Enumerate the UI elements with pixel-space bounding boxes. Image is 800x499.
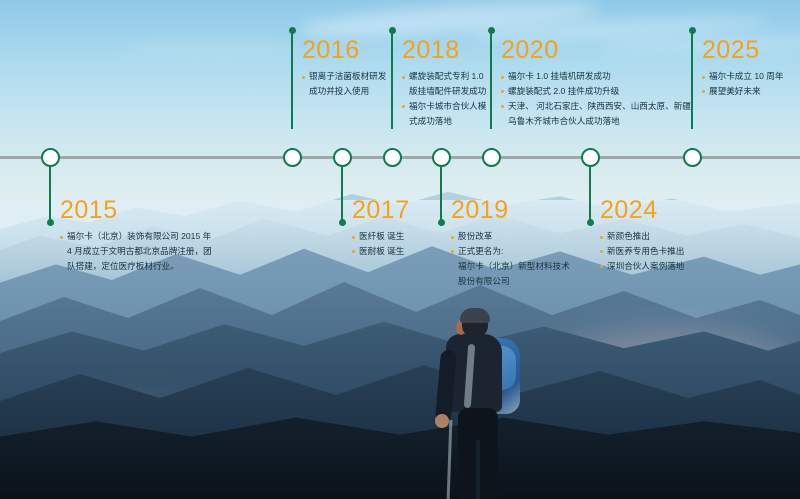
entry-bullet-list: 福尔卡 1.0 挂墙机研发成功螺旋装配式 2.0 挂件成功升级天津、 河北石家庄… — [501, 70, 691, 129]
trekking-pole — [447, 420, 453, 499]
bullet-text: 福尔卡（北京）装饰有限公司 2015 年 — [67, 230, 211, 244]
node-stem — [440, 167, 442, 223]
node-ring-icon — [283, 148, 302, 167]
entry-bullet: 展望美好未来 — [702, 85, 784, 99]
bullet-text: 银离子洁菌板材研发 — [309, 70, 386, 84]
entry-year-label: 2018 — [402, 38, 486, 63]
bullet-text: 天津、 河北石家庄、陕西西安、山西太原、新疆 — [508, 100, 691, 114]
bullet-text: 成功并投入使用 — [309, 85, 369, 99]
entry-bullet: 福尔卡（北京）新型材料技术 — [451, 260, 570, 274]
bullet-dot-icon — [402, 105, 405, 108]
timeline-entry-2019[interactable]: 2019股份改革正式更名为:福尔卡（北京）新型材料技术股份有限公司 — [451, 198, 570, 290]
entry-bullet-list: 银离子洁菌板材研发成功并投入使用 — [302, 70, 386, 99]
node-ring-icon — [581, 148, 600, 167]
bullet-dot-icon — [402, 76, 405, 79]
entry-bullet: 医耐板 诞生 — [352, 245, 410, 259]
hiker-figure — [430, 310, 560, 499]
entry-bullet: 新颜色推出 — [600, 230, 684, 244]
entry-year-label: 2016 — [302, 38, 386, 63]
entry-bullet: 队搭建，定位医疗板材行业。 — [60, 260, 212, 274]
bullet-text: 福尔卡（北京）新型材料技术 — [458, 260, 570, 274]
entry-year-label: 2024 — [600, 198, 684, 223]
timeline-entry-2024[interactable]: 2024新颜色推出新医养专用色卡推出深圳合伙人案例落地 — [600, 198, 684, 275]
bullet-text: 医耐板 诞生 — [359, 245, 404, 259]
node-stem — [391, 30, 393, 129]
bullet-text: 股份改革 — [458, 230, 492, 244]
entry-year-label: 2019 — [451, 198, 570, 223]
node-stem-dot — [438, 219, 445, 226]
node-stem-dot — [47, 219, 54, 226]
entry-bullet: 医纤板 诞生 — [352, 230, 410, 244]
node-ring-icon — [333, 148, 352, 167]
bullet-dot-icon — [451, 236, 454, 239]
entry-bullet: 新医养专用色卡推出 — [600, 245, 684, 259]
bullet-dot-icon — [402, 120, 405, 123]
bullet-text: 队搭建，定位医疗板材行业。 — [67, 260, 179, 274]
entry-bullet: 天津、 河北石家庄、陕西西安、山西太原、新疆 — [501, 100, 691, 114]
entry-bullet: 螺旋装配式专利 1.0 — [402, 70, 486, 84]
node-ring-icon — [482, 148, 501, 167]
entry-bullet-list: 福尔卡（北京）装饰有限公司 2015 年4 月成立于文明古都北京品牌注册，团队搭… — [60, 230, 212, 274]
node-stem — [49, 167, 51, 223]
node-stem — [291, 30, 293, 129]
bullet-dot-icon — [451, 265, 454, 268]
entry-year-label: 2025 — [702, 38, 784, 63]
bullet-text: 正式更名为: — [458, 245, 503, 259]
node-stem-dot — [689, 27, 696, 34]
bullet-text: 乌鲁木齐城市合伙人成功落地 — [508, 115, 620, 129]
bullet-dot-icon — [600, 265, 603, 268]
entry-bullet: 福尔卡（北京）装饰有限公司 2015 年 — [60, 230, 212, 244]
bullet-text: 福尔卡城市合伙人模 — [409, 100, 486, 114]
bullet-dot-icon — [501, 120, 504, 123]
node-stem — [691, 30, 693, 129]
bullet-dot-icon — [702, 76, 705, 79]
node-stem-dot — [488, 27, 495, 34]
bullet-dot-icon — [402, 90, 405, 93]
timeline-entry-2016[interactable]: 2016银离子洁菌板材研发成功并投入使用 — [302, 38, 386, 100]
timeline-entry-2018[interactable]: 2018螺旋装配式专利 1.0版挂墙配件研发成功福尔卡城市合伙人模式成功落地 — [402, 38, 486, 130]
entry-year-label: 2020 — [501, 38, 691, 63]
bullet-text: 式成功落地 — [409, 115, 452, 129]
entry-bullet-list: 福尔卡成立 10 周年展望美好未来 — [702, 70, 784, 99]
timeline-infographic: 2015福尔卡（北京）装饰有限公司 2015 年4 月成立于文明古都北京品牌注册… — [0, 0, 800, 499]
node-stem — [341, 167, 343, 223]
cloud — [120, 44, 300, 56]
entry-year-label: 2015 — [60, 198, 212, 223]
bullet-dot-icon — [302, 90, 305, 93]
bullet-text: 版挂墙配件研发成功 — [409, 85, 486, 99]
bullet-dot-icon — [501, 76, 504, 79]
entry-bullet: 螺旋装配式 2.0 挂件成功升级 — [501, 85, 691, 99]
entry-bullet-list: 医纤板 诞生医耐板 诞生 — [352, 230, 410, 259]
entry-bullet: 4 月成立于文明古都北京品牌注册，团 — [60, 245, 212, 259]
entry-bullet: 福尔卡城市合伙人模 — [402, 100, 486, 114]
bullet-text: 螺旋装配式专利 1.0 — [409, 70, 484, 84]
bullet-dot-icon — [702, 90, 705, 93]
bullet-text: 福尔卡成立 10 周年 — [709, 70, 784, 84]
bullet-text: 螺旋装配式 2.0 挂件成功升级 — [508, 85, 619, 99]
timeline-entry-2015[interactable]: 2015福尔卡（北京）装饰有限公司 2015 年4 月成立于文明古都北京品牌注册… — [60, 198, 212, 275]
bullet-dot-icon — [352, 250, 355, 253]
entry-bullet-list: 螺旋装配式专利 1.0版挂墙配件研发成功福尔卡城市合伙人模式成功落地 — [402, 70, 486, 129]
hiker-hand — [435, 414, 449, 428]
entry-bullet: 版挂墙配件研发成功 — [402, 85, 486, 99]
bullet-dot-icon — [451, 250, 454, 253]
entry-bullet: 股份有限公司 — [451, 275, 570, 289]
entry-year-label: 2017 — [352, 198, 410, 223]
entry-bullet: 深圳合伙人案例落地 — [600, 260, 684, 274]
node-ring-icon — [432, 148, 451, 167]
entry-bullet: 乌鲁木齐城市合伙人成功落地 — [501, 115, 691, 129]
node-stem — [490, 30, 492, 129]
bullet-text: 福尔卡 1.0 挂墙机研发成功 — [508, 70, 611, 84]
bullet-dot-icon — [60, 250, 63, 253]
bullet-dot-icon — [501, 90, 504, 93]
timeline-entry-2017[interactable]: 2017医纤板 诞生医耐板 诞生 — [352, 198, 410, 260]
bullet-dot-icon — [60, 265, 63, 268]
bullet-dot-icon — [600, 250, 603, 253]
bullet-text: 新医养专用色卡推出 — [607, 245, 684, 259]
entry-bullet-list: 新颜色推出新医养专用色卡推出深圳合伙人案例落地 — [600, 230, 684, 274]
entry-bullet: 银离子洁菌板材研发 — [302, 70, 386, 84]
bullet-dot-icon — [60, 236, 63, 239]
node-stem-dot — [587, 219, 594, 226]
entry-bullet-list: 股份改革正式更名为:福尔卡（北京）新型材料技术股份有限公司 — [451, 230, 570, 289]
bullet-dot-icon — [600, 236, 603, 239]
entry-bullet: 式成功落地 — [402, 115, 486, 129]
bullet-text: 医纤板 诞生 — [359, 230, 404, 244]
node-ring-icon — [383, 148, 402, 167]
entry-bullet: 福尔卡 1.0 挂墙机研发成功 — [501, 70, 691, 84]
bullet-text: 深圳合伙人案例落地 — [607, 260, 684, 274]
bullet-dot-icon — [352, 236, 355, 239]
bullet-dot-icon — [501, 105, 504, 108]
node-ring-icon — [683, 148, 702, 167]
hiker-headwear — [460, 308, 490, 323]
timeline-entry-2020[interactable]: 2020福尔卡 1.0 挂墙机研发成功螺旋装配式 2.0 挂件成功升级天津、 河… — [501, 38, 691, 130]
node-stem-dot — [389, 27, 396, 34]
bullet-text: 4 月成立于文明古都北京品牌注册，团 — [67, 245, 212, 259]
node-stem — [589, 167, 591, 223]
bullet-dot-icon — [451, 280, 454, 283]
entry-bullet: 股份改革 — [451, 230, 570, 244]
entry-bullet: 福尔卡成立 10 周年 — [702, 70, 784, 84]
entry-bullet: 成功并投入使用 — [302, 85, 386, 99]
entry-bullet: 正式更名为: — [451, 245, 570, 259]
timeline-entry-2025[interactable]: 2025福尔卡成立 10 周年展望美好未来 — [702, 38, 784, 100]
bullet-text: 新颜色推出 — [607, 230, 650, 244]
bullet-text: 展望美好未来 — [709, 85, 761, 99]
bullet-dot-icon — [302, 76, 305, 79]
node-stem-dot — [289, 27, 296, 34]
node-stem-dot — [339, 219, 346, 226]
hiker-leg-separation — [476, 440, 480, 499]
bullet-text: 股份有限公司 — [458, 275, 510, 289]
node-ring-icon — [41, 148, 60, 167]
